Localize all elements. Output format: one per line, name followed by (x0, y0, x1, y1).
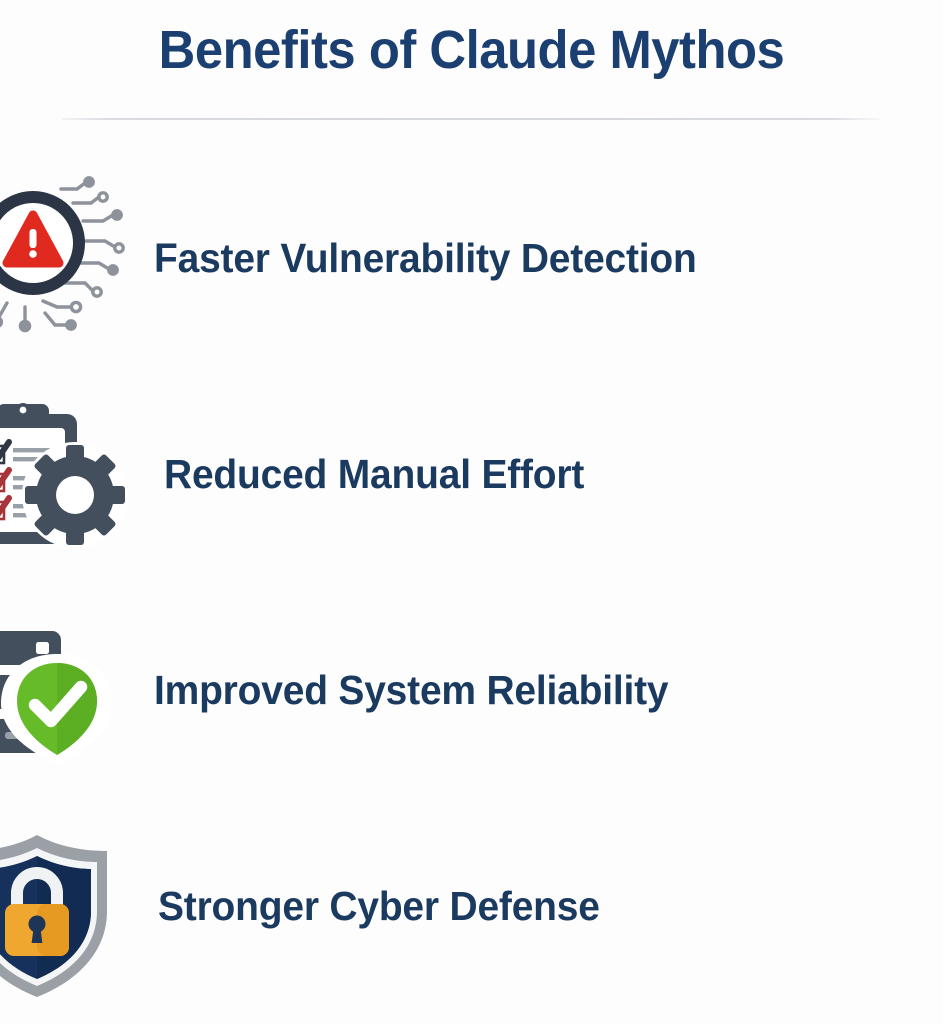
clipboard-gear-icon (0, 388, 168, 568)
benefit-label: Reduced Manual Effort (164, 454, 584, 495)
server-check-icon (0, 606, 158, 786)
page-title: Benefits of Claude Mythos (28, 22, 914, 79)
benefit-row[interactable]: Improved System Reliability (0, 582, 943, 798)
shield-lock-icon (0, 826, 162, 1006)
title-divider (62, 118, 880, 120)
benefit-label: Stronger Cyber Defense (158, 886, 600, 927)
benefit-row[interactable]: Stronger Cyber Defense (0, 798, 943, 1014)
benefit-row[interactable]: Faster Vulnerability Detection (0, 150, 943, 366)
benefit-row[interactable]: Reduced Manual Effort (0, 366, 943, 582)
benefit-label: Faster Vulnerability Detection (154, 238, 697, 279)
benefit-label: Improved System Reliability (154, 670, 668, 711)
magnifier-warning-icon (0, 166, 158, 346)
slide-root: Benefits of Claude Mythos (0, 0, 943, 1024)
title-block: Benefits of Claude Mythos (0, 22, 943, 79)
benefits-list: Faster Vulnerability Detection (0, 150, 943, 1014)
